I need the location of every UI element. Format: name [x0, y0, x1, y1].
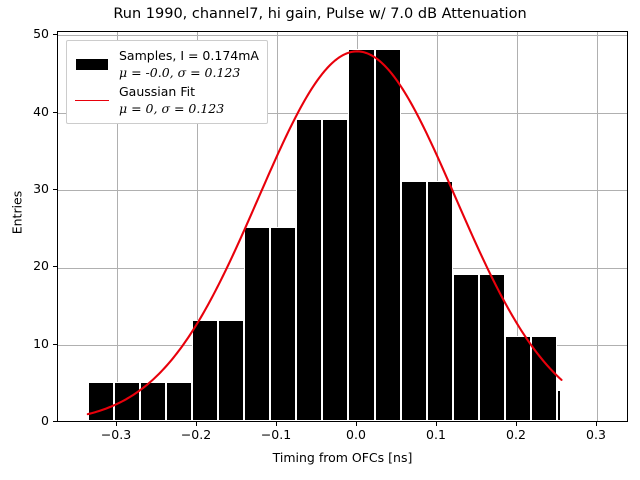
y-tick-label-10: 10: [0, 336, 49, 351]
legend-samples-mu: μ = -0.0,: [119, 65, 178, 80]
y-tick-label-40: 40: [0, 104, 49, 119]
legend-fit-sigma: σ = 0.123: [161, 101, 224, 116]
x-tick-mark-01: [436, 422, 437, 426]
x-tick-mark-00: [356, 422, 357, 426]
page-title: Run 1990, channel7, hi gain, Pulse w/ 7.…: [0, 6, 640, 22]
figure-canvas: Run 1990, channel7, hi gain, Pulse w/ 7.…: [0, 0, 640, 480]
y-tick-label-30: 30: [0, 181, 49, 196]
legend-samples-line1: Samples, I = 0.174mA: [119, 48, 259, 63]
legend-fit-mu: μ = 0,: [119, 101, 161, 116]
x-tick-label-00: 0.0: [326, 427, 386, 442]
y-tick-label-50: 50: [0, 26, 49, 41]
x-tick-label-03: 0.3: [566, 427, 626, 442]
legend-samples-sigma: σ = 0.123: [178, 65, 241, 80]
x-tick-mark-m01: [276, 422, 277, 426]
x-tick-label-02: 0.2: [486, 427, 546, 442]
legend-patch-icon: [74, 53, 110, 75]
x-tick-mark-02: [516, 422, 517, 426]
legend-entry-fit: Gaussian Fit μ = 0, σ = 0.123: [74, 82, 259, 118]
x-tick-label-m03: −0.3: [86, 427, 146, 442]
legend-line-icon: [74, 89, 110, 111]
x-axis-label: Timing from OFCs [ns]: [57, 450, 628, 465]
x-tick-mark-m03: [116, 422, 117, 426]
x-tick-mark-m02: [196, 422, 197, 426]
y-axis-label: Entries: [10, 123, 25, 303]
legend-fit-line1: Gaussian Fit: [119, 84, 195, 99]
legend-entry-samples: Samples, I = 0.174mA μ = -0.0, σ = 0.123: [74, 46, 259, 82]
y-tick-label-20: 20: [0, 258, 49, 273]
x-tick-label-01: 0.1: [406, 427, 466, 442]
x-tick-label-m01: −0.1: [246, 427, 306, 442]
x-tick-mark-03: [596, 422, 597, 426]
legend: Samples, I = 0.174mA μ = -0.0, σ = 0.123…: [66, 40, 268, 124]
y-tick-label-0: 0: [0, 413, 49, 428]
x-tick-label-m02: −0.2: [166, 427, 226, 442]
